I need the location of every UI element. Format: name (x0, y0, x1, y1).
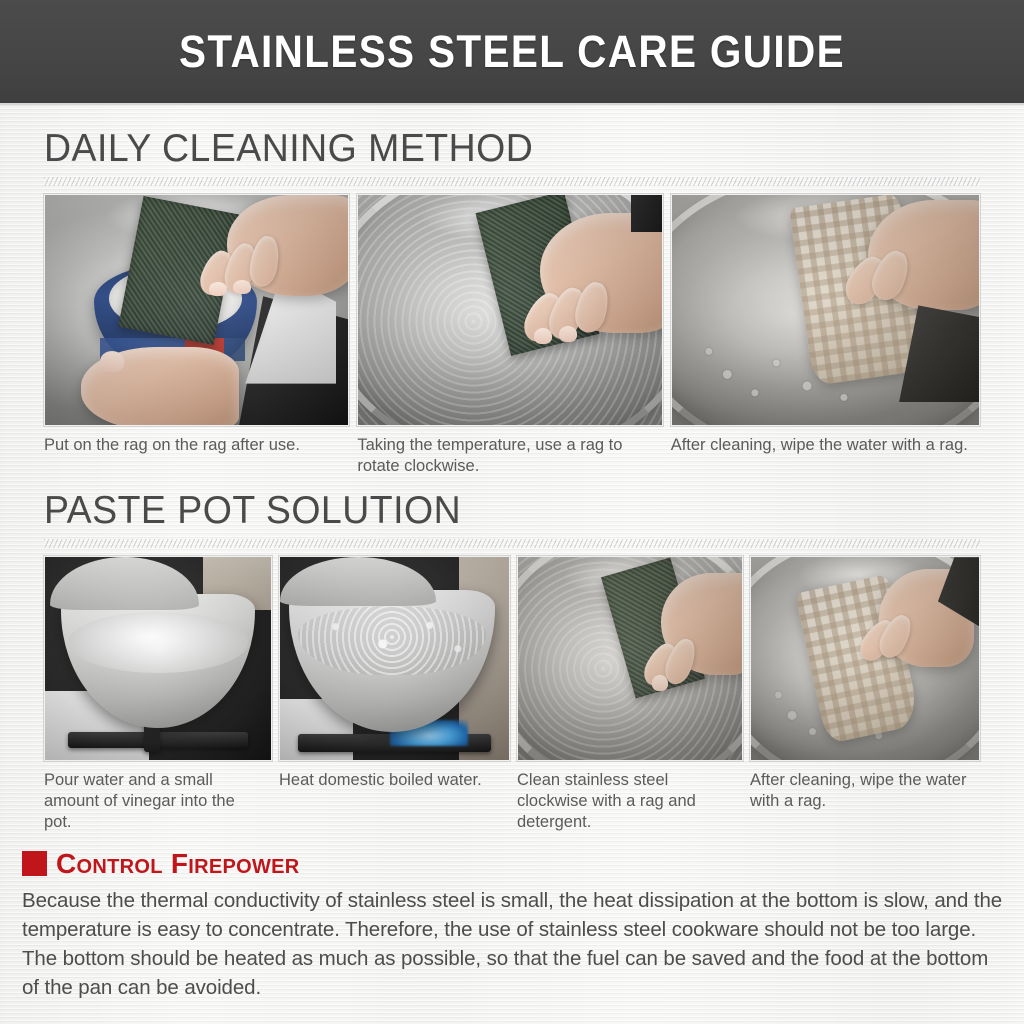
step-card: After cleaning, wipe the water with a ra… (750, 556, 980, 833)
photo-vignette (280, 557, 509, 760)
step-photo-scrub-clockwise (357, 194, 662, 426)
step-card: After cleaning, wipe the water with a ra… (671, 194, 980, 477)
page-header: STAINLESS STEEL CARE GUIDE (0, 0, 1024, 105)
photo-vignette (672, 195, 979, 425)
step-card: Heat domestic boiled water. (279, 556, 510, 833)
photo-grid-row-2: Pour water and a small amount of vinegar… (44, 556, 980, 833)
red-square-bullet-icon (22, 851, 47, 876)
section-heading: PASTE POT SOLUTION (44, 489, 943, 533)
step-card: Pour water and a small amount of vinegar… (44, 556, 272, 833)
section-divider (44, 539, 980, 548)
step-card: Taking the temperature, use a rag to rot… (357, 194, 662, 477)
photo-vignette (751, 557, 979, 760)
page-title: STAINLESS STEEL CARE GUIDE (179, 26, 845, 78)
step-card: Put on the rag on the rag after use. (44, 194, 349, 477)
step-caption: Taking the temperature, use a rag to rot… (357, 435, 662, 477)
step-caption: Clean stainless steel clockwise with a r… (517, 770, 743, 833)
step-photo-wipe-water (671, 194, 980, 426)
care-guide-page: STAINLESS STEEL CARE GUIDE DAILY CLEANIN… (0, 0, 1024, 1024)
step-caption: After cleaning, wipe the water with a ra… (671, 435, 980, 456)
section-paste-pot-solution: PASTE POT SOLUTION (0, 477, 1024, 833)
photo-vignette (358, 195, 661, 425)
note-title: Control Firepower (56, 848, 300, 880)
step-caption: After cleaning, wipe the water with a ra… (750, 770, 980, 812)
section-divider (44, 177, 980, 186)
step-photo-clean-clockwise (517, 556, 743, 761)
note-body-text: Because the thermal conductivity of stai… (22, 886, 1004, 1002)
step-caption: Heat domestic boiled water. (279, 770, 510, 791)
photo-vignette (518, 557, 742, 760)
photo-vignette (45, 557, 271, 760)
note-heading-row: Control Firepower (22, 848, 1004, 880)
step-photo-wipe-dry (750, 556, 980, 761)
photo-grid-row-1: Put on the rag on the rag after use. (44, 194, 980, 477)
step-photo-pour-water-vinegar (44, 556, 272, 761)
step-card: Clean stainless steel clockwise with a r… (517, 556, 743, 833)
control-firepower-note: Control Firepower Because the thermal co… (0, 848, 1024, 1002)
step-photo-paste-tub (44, 194, 349, 426)
photo-vignette (45, 195, 348, 425)
step-caption: Put on the rag on the rag after use. (44, 435, 349, 456)
step-caption: Pour water and a small amount of vinegar… (44, 770, 272, 833)
step-photo-boiling-water (279, 556, 510, 761)
section-heading: DAILY CLEANING METHOD (44, 127, 943, 171)
section-daily-cleaning-method: DAILY CLEANING METHOD (0, 105, 1024, 477)
